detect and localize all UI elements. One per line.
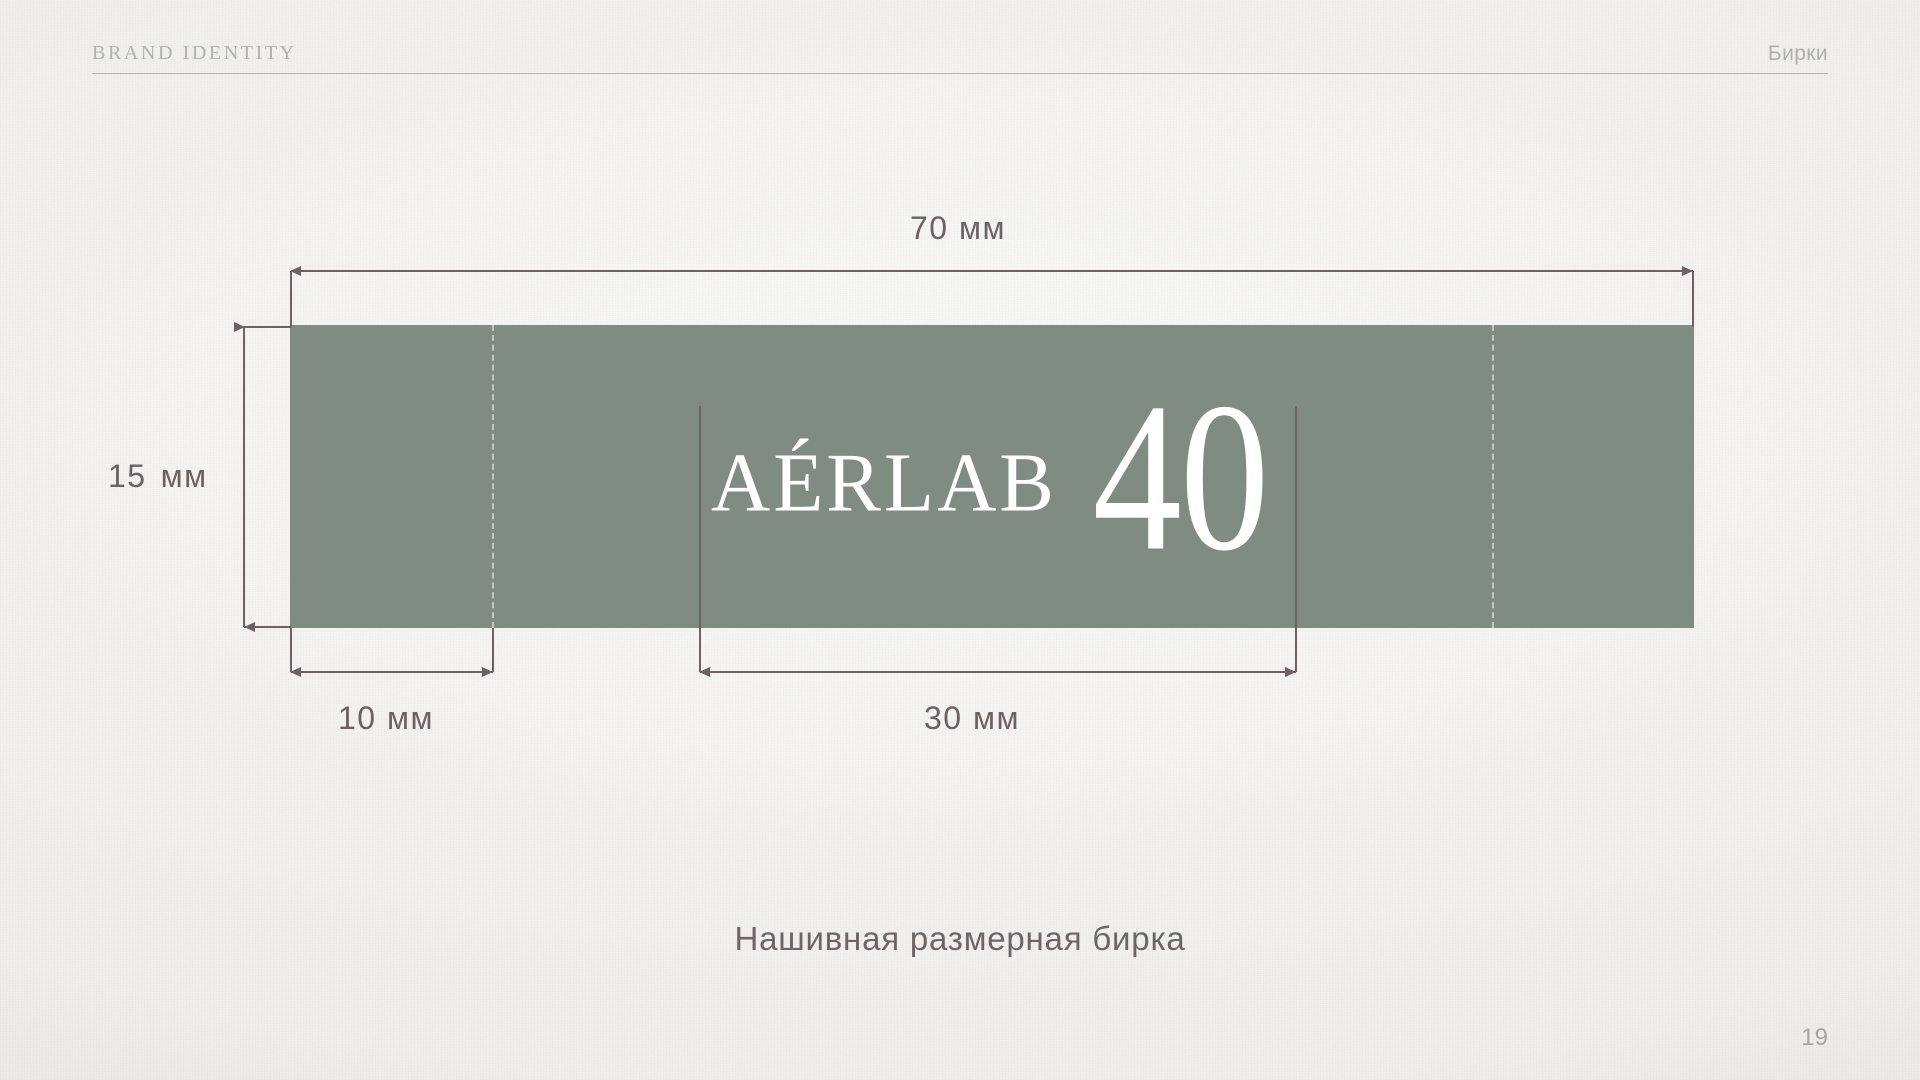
slide-header: BRAND IDENTITY Бирки: [92, 30, 1828, 74]
dimension-15mm: [244, 327, 291, 627]
dimension-15mm-unit: мм: [161, 458, 208, 494]
dimension-10mm: [291, 628, 493, 672]
brand-kicker: BRAND IDENTITY: [92, 42, 297, 65]
tag-logo-group: AÉRLAB 40: [290, 325, 1694, 628]
tag-logo-wordmark: AÉRLAB: [711, 441, 1057, 525]
dimension-15mm-value: 15: [108, 458, 147, 494]
slide-caption: Нашивная размерная бирка: [0, 920, 1920, 958]
header-divider: [92, 73, 1828, 74]
dimension-70mm: [291, 271, 1693, 327]
dimension-label-10mm: 10 мм: [338, 700, 434, 737]
slide-canvas: BRAND IDENTITY Бирки AÉRLAB 40: [0, 0, 1920, 1080]
dimension-label-70mm: 70 мм: [0, 210, 1920, 247]
dimension-label-15mm: 15мм: [108, 458, 208, 495]
page-number: 19: [1801, 1024, 1828, 1052]
size-tag-artwork: AÉRLAB 40: [290, 325, 1694, 628]
dimension-label-30mm: 30 мм: [924, 700, 1020, 737]
tag-size-number: 40: [1093, 391, 1268, 565]
section-name: Бирки: [1768, 42, 1828, 66]
